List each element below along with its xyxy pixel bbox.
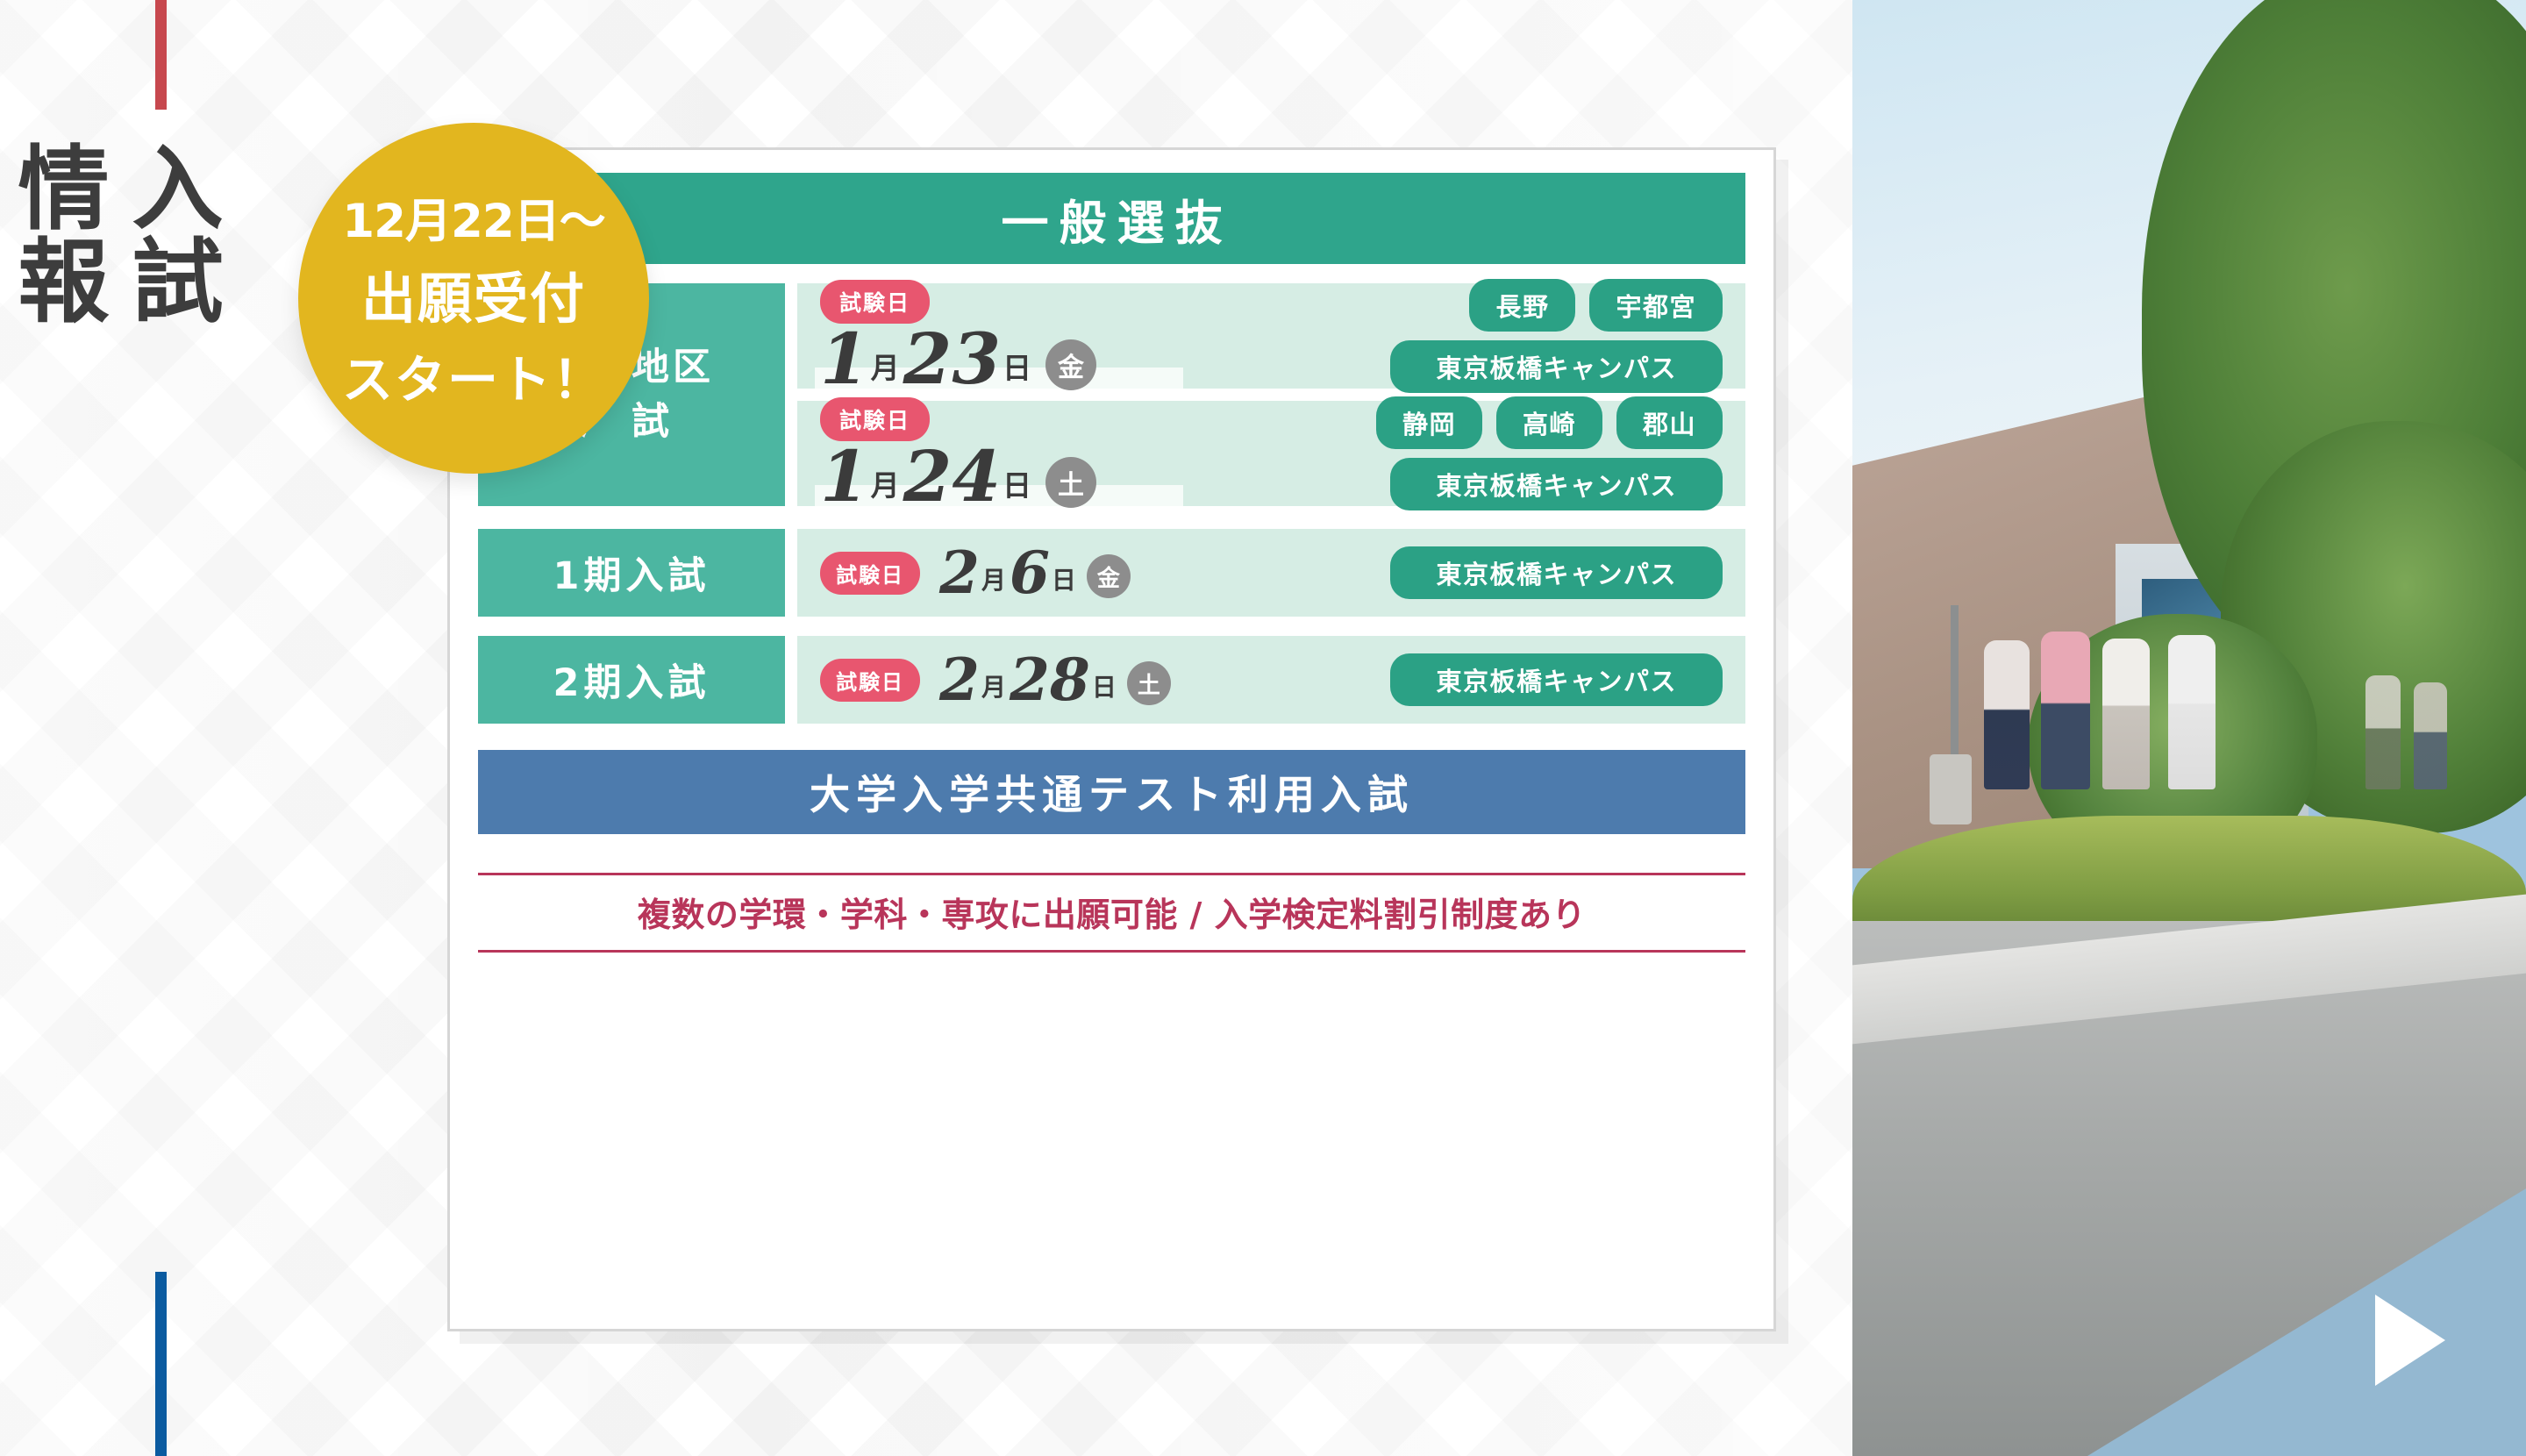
exam-month-unit: 月 [981,668,1006,707]
exam-term-body: 試験日 2 月 6 日 金 東京板橋キャンパス [797,529,1745,617]
venue-tag-row-top: 静岡 高崎 郡山 [1376,396,1723,449]
venue-tag-campus[interactable]: 東京板橋キャンパス [1390,653,1723,706]
application-start-badge[interactable]: 12月22日〜 出願受付 スタート！ [298,123,649,474]
exam-day-unit: 日 [1003,462,1031,510]
exam-date-left: 試験日 1 月 24 日 土 [820,397,1206,510]
exam-day-of-week: 金 [1045,339,1096,390]
exam-month-number: 2 [939,546,980,601]
venue-tag[interactable]: 宇都宮 [1589,279,1723,332]
exam-day-number: 28 [1010,653,1090,708]
exam-date-line: 2 月 28 日 土 [939,653,1171,708]
unified-district-dates: 試験日 1 月 23 日 金 長野 宇都宮 [797,283,1745,506]
exam-date-row: 試験日 1 月 24 日 土 静岡 高崎 郡山 [797,401,1745,506]
common-test-band[interactable]: 大学入学共通テスト利用入試 [478,750,1745,834]
exam-month-unit: 月 [871,462,900,510]
exam-term-body: 試験日 2 月 28 日 土 東京板橋キャンパス [797,636,1745,724]
photo-person [2102,639,2150,789]
photo-person [2365,675,2401,789]
exam-term-row: 1期入試 試験日 2 月 6 日 金 東京板橋キャンパス [478,529,1745,617]
exam-date-row: 試験日 1 月 23 日 金 長野 宇都宮 [797,283,1745,389]
exam-term-label: 1期入試 [478,529,785,617]
exam-term-label: 2期入試 [478,636,785,724]
venue-tag-group: 長野 宇都宮 東京板橋キャンパス [1206,279,1723,393]
footer-note-text: 複数の学環・学科・専攻に出願可能 / 入学検定料割引制度あり [478,875,1745,950]
exam-day-number: 23 [903,325,1001,392]
exam-month-number: 2 [939,653,980,708]
card-footer-note: 複数の学環・学科・専攻に出願可能 / 入学検定料割引制度あり [478,873,1745,953]
promo-badge-line2: 出願受付 [361,254,586,333]
exam-date-line: 1 月 23 日 金 [820,325,1206,392]
exam-day-unit: 日 [1092,668,1117,707]
photo-pole [1951,605,1959,763]
exam-day-of-week: 土 [1045,457,1096,508]
venue-tag-group: 静岡 高崎 郡山 東京板橋キャンパス [1206,396,1723,510]
venue-tag-campus[interactable]: 東京板橋キャンパス [1390,546,1723,599]
left-title-rail: 入試 情報 [0,0,351,1456]
exam-date-line: 2 月 6 日 金 [939,546,1131,601]
promo-badge-line1: 12月22日〜 [342,184,605,251]
exam-day-unit: 日 [1003,345,1031,392]
venue-tag[interactable]: 高崎 [1496,396,1602,449]
card-header-band: 一般選抜 [478,173,1745,264]
exam-month-number: 1 [820,443,869,510]
venue-tag-row-bottom: 東京板橋キャンパス [1390,458,1723,510]
venue-tag-row-top: 長野 宇都宮 [1469,279,1723,332]
exam-month-unit: 月 [981,561,1006,600]
exam-day-number: 24 [903,443,1001,510]
venue-tag-campus[interactable]: 東京板橋キャンパス [1390,340,1723,393]
exam-day-number: 6 [1010,546,1050,601]
exam-month-number: 1 [820,325,869,392]
exam-date-left: 試験日 1 月 23 日 金 [820,280,1206,392]
venue-tag[interactable]: 郡山 [1616,396,1723,449]
venue-tag-row-bottom: 東京板橋キャンパス [1390,340,1723,393]
unified-district-block: 統一地区 入 試 試験日 1 月 23 日 金 [478,283,1745,506]
exam-day-of-week: 金 [1087,554,1131,598]
exam-term-row: 2期入試 試験日 2 月 28 日 土 東京板橋キャンパス [478,636,1745,724]
page-title: 入試 情報 [103,140,226,326]
exam-month-unit: 月 [871,345,900,392]
exam-day-of-week: 土 [1127,661,1171,705]
venue-tag[interactable]: 長野 [1469,279,1575,332]
common-test-label: 大学入学共通テスト利用入試 [810,763,1414,821]
promo-badge-line3: スタート！ [342,339,605,412]
accent-bar-blue [155,1272,167,1456]
photo-person [2414,682,2447,789]
venue-tag-campus[interactable]: 東京板橋キャンパス [1390,458,1723,510]
play-icon[interactable] [2375,1295,2445,1386]
exam-date-badge: 試験日 [820,552,920,595]
footer-rule-bottom [478,950,1745,953]
accent-bar-red [155,0,167,110]
photo-person [2041,632,2090,789]
campus-photo [1852,0,2526,1456]
photo-person [1984,640,2030,789]
photo-person [2168,635,2216,789]
exam-day-unit: 日 [1052,561,1076,600]
exam-date-badge: 試験日 [820,659,920,702]
photo-trash-bin [1930,754,1972,824]
card-header-label: 一般選抜 [991,184,1233,253]
venue-tag[interactable]: 静岡 [1376,396,1482,449]
exam-date-line: 1 月 24 日 土 [820,443,1206,510]
